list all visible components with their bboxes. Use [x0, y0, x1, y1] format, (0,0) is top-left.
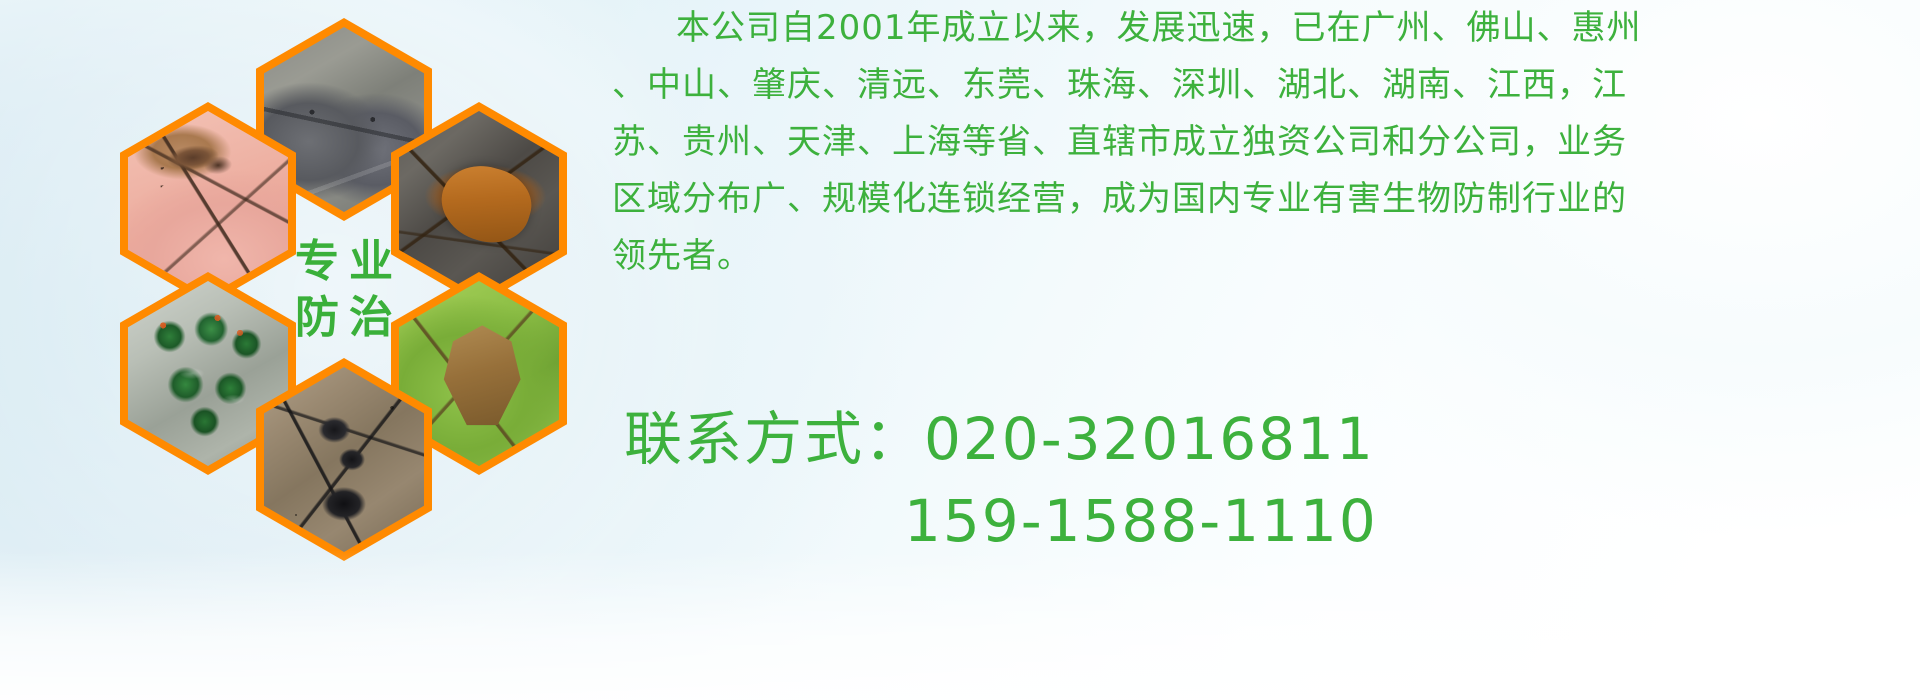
- contact-phone-secondary[interactable]: 159-1588-1110: [612, 480, 1902, 562]
- intro-line-1: 本公司自2001年成立以来，发展迅速，已在广州、佛山、惠州: [612, 0, 1902, 57]
- brand-slogan-line-1: 专业: [285, 240, 403, 284]
- brand-slogan-line-2: 防治: [285, 296, 403, 340]
- intro-line-2: 、中山、肇庆、清远、东莞、珠海、深圳、湖北、湖南、江西，江: [612, 57, 1902, 114]
- ant-photo-icon: [264, 367, 424, 552]
- intro-line-5: 领先者。: [612, 228, 1902, 285]
- intro-paragraph: 本公司自2001年成立以来，发展迅速，已在广州、佛山、惠州 、中山、肇庆、清远、…: [612, 0, 1902, 285]
- promo-banner: 专业 防治 本公司自2001年成立以来，发展迅速，已在广州、佛山、惠州 、中山、…: [0, 0, 1920, 700]
- intro-line-4: 区域分布广、规模化连锁经营，成为国内专业有害生物防制行业的: [612, 171, 1902, 228]
- contact-block: 联系方式：020-32016811 159-1588-1110: [612, 398, 1902, 562]
- intro-line-3: 苏、贵州、天津、上海等省、直辖市成立独资公司和分公司，业务: [612, 114, 1902, 171]
- contact-phone-primary[interactable]: 联系方式：020-32016811: [612, 398, 1902, 480]
- honeycomb-gallery: 专业 防治: [88, 10, 588, 555]
- content-column: 本公司自2001年成立以来，发展迅速，已在广州、佛山、惠州 、中山、肇庆、清远、…: [612, 0, 1902, 700]
- brand-slogan: 专业 防治: [256, 188, 432, 391]
